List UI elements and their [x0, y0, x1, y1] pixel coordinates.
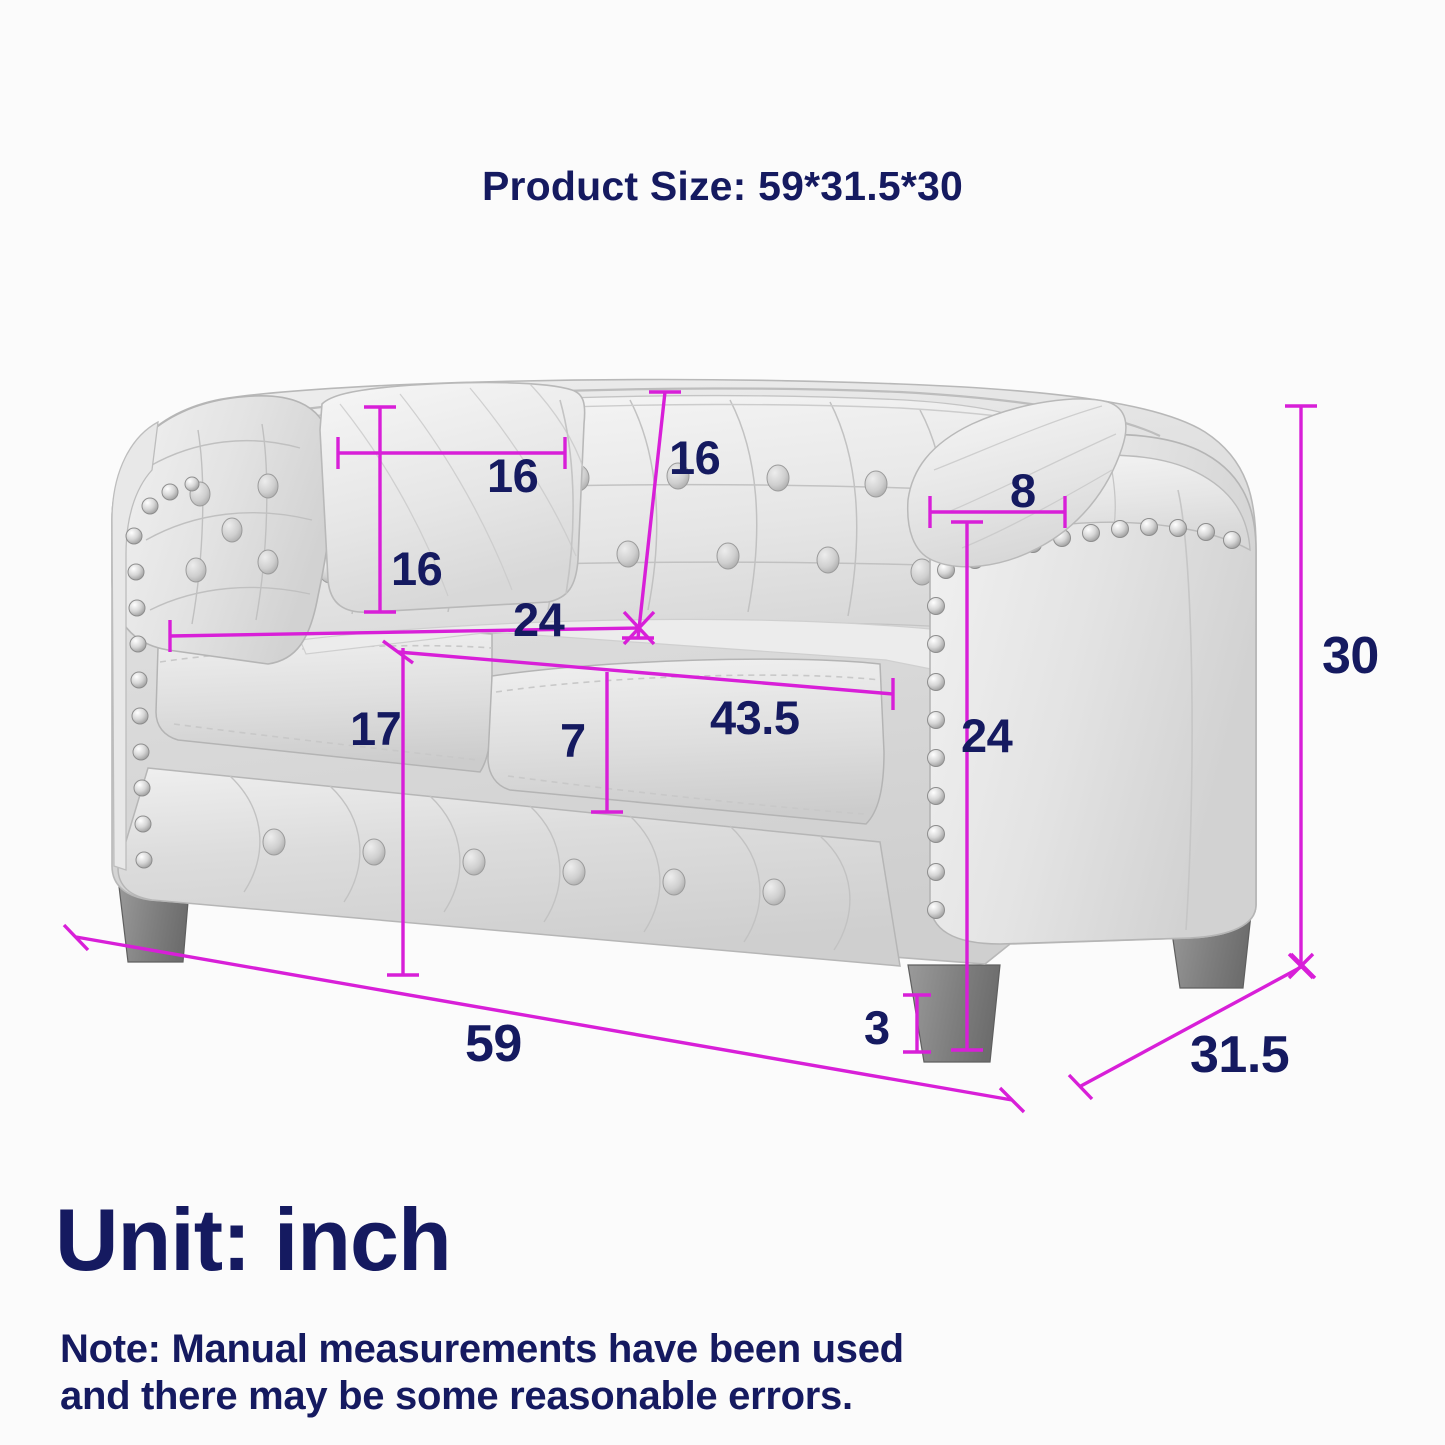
dimension-label-overall-height: 30 [1322, 630, 1379, 682]
measurement-note-line-2: and there may be some reasonable errors. [60, 1373, 904, 1420]
dimension-label-back-height: 16 [669, 434, 720, 481]
dimension-label-seat-height: 17 [350, 705, 401, 752]
dimension-label-pillow-width: 16 [487, 452, 538, 499]
dimension-label-overall-width: 59 [465, 1018, 522, 1070]
accent-pillow-left [320, 383, 585, 613]
measurement-note-line-1: Note: Manual measurements have been used [60, 1326, 904, 1373]
dimension-label-arm-height: 24 [961, 712, 1012, 759]
dimension-label-seat-width: 43.5 [710, 694, 799, 741]
dimension-label-arm-width: 8 [1010, 467, 1036, 514]
dimension-label-cushion-thickness: 7 [560, 717, 586, 764]
measurement-note: Note: Manual measurements have been used… [60, 1326, 904, 1420]
dimension-label-leg-height: 3 [864, 1004, 890, 1051]
dimension-label-pillow-height: 16 [391, 545, 442, 592]
dimension-label-seat-depth: 24 [513, 596, 564, 643]
dimension-label-overall-depth: 31.5 [1190, 1029, 1289, 1081]
unit-label: Unit: inch [55, 1196, 451, 1284]
diagram-root: Product Size: 59*31.5*30 [0, 0, 1445, 1445]
